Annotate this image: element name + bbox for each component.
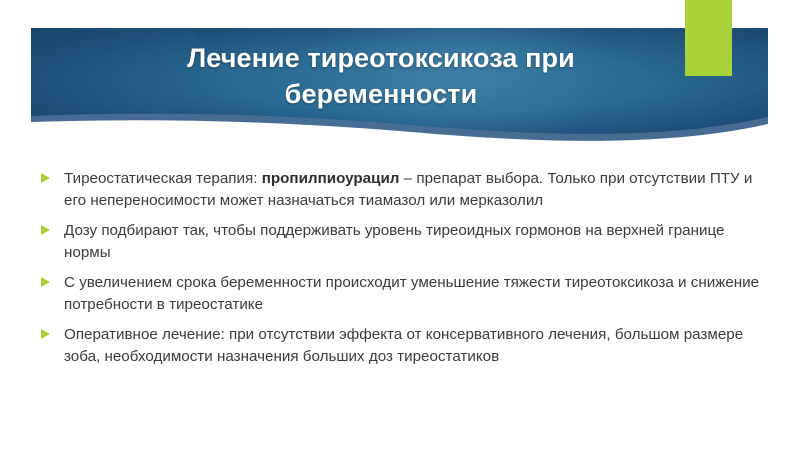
- bullet-list: Тиреостатическая терапия: пропилпиоураци…: [36, 168, 771, 376]
- banner-shape: [31, 28, 768, 146]
- list-item: С увеличением срока беременности происхо…: [36, 272, 771, 315]
- list-item: Оперативное лечение: при отсутствии эффе…: [36, 324, 771, 367]
- title-banner: [31, 28, 768, 146]
- green-accent-bar: [685, 0, 732, 76]
- list-item-text: Тиреостатическая терапия: пропилпиоураци…: [64, 168, 771, 211]
- list-item: Дозу подбирают так, чтобы поддерживать у…: [36, 220, 771, 263]
- triangle-bullet-icon: [41, 225, 50, 235]
- triangle-bullet-icon: [41, 329, 50, 339]
- list-item-text: Оперативное лечение: при отсутствии эффе…: [64, 324, 771, 367]
- list-item-text: Дозу подбирают так, чтобы поддерживать у…: [64, 220, 771, 263]
- triangle-bullet-icon: [41, 173, 50, 183]
- triangle-bullet-icon: [41, 277, 50, 287]
- list-item: Тиреостатическая терапия: пропилпиоураци…: [36, 168, 771, 211]
- list-item-text: С увеличением срока беременности происхо…: [64, 272, 771, 315]
- presentation-slide: Лечение тиреотоксикоза при беременности …: [0, 0, 800, 449]
